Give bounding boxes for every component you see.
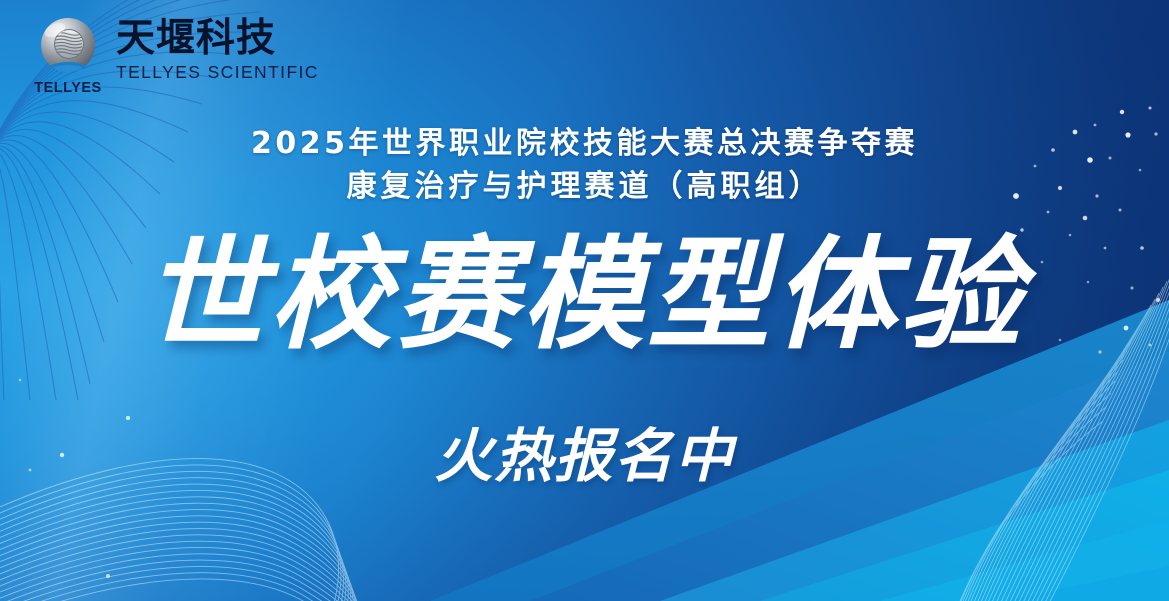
promo-banner: TELLYES 天堰科技 TELLYES SCIENTIFIC 2025年世界职… (0, 0, 1169, 601)
event-subtitle-line-1: 2025年世界职业院校技能大赛总决赛争夺赛 (0, 123, 1169, 166)
event-subtitle-line-2: 康复治疗与护理赛道（高职组） (0, 166, 1169, 209)
cta-text: 火热报名中 (0, 427, 1169, 485)
sphere-icon (35, 17, 101, 79)
logo-company-text: 天堰科技 TELLYES SCIENTIFIC (116, 17, 319, 83)
company-name-en: TELLYES SCIENTIFIC (116, 62, 319, 83)
tellyes-logo: TELLYES 天堰科技 TELLYES SCIENTIFIC (32, 17, 319, 99)
company-name-cn: 天堰科技 (116, 19, 319, 59)
headline-title: 世校赛模型体验 (0, 234, 1169, 356)
logo-mark: TELLYES (32, 17, 104, 99)
event-subtitle: 2025年世界职业院校技能大赛总决赛争夺赛 康复治疗与护理赛道（高职组） (0, 123, 1169, 209)
logo-wordmark: TELLYES (34, 80, 101, 96)
